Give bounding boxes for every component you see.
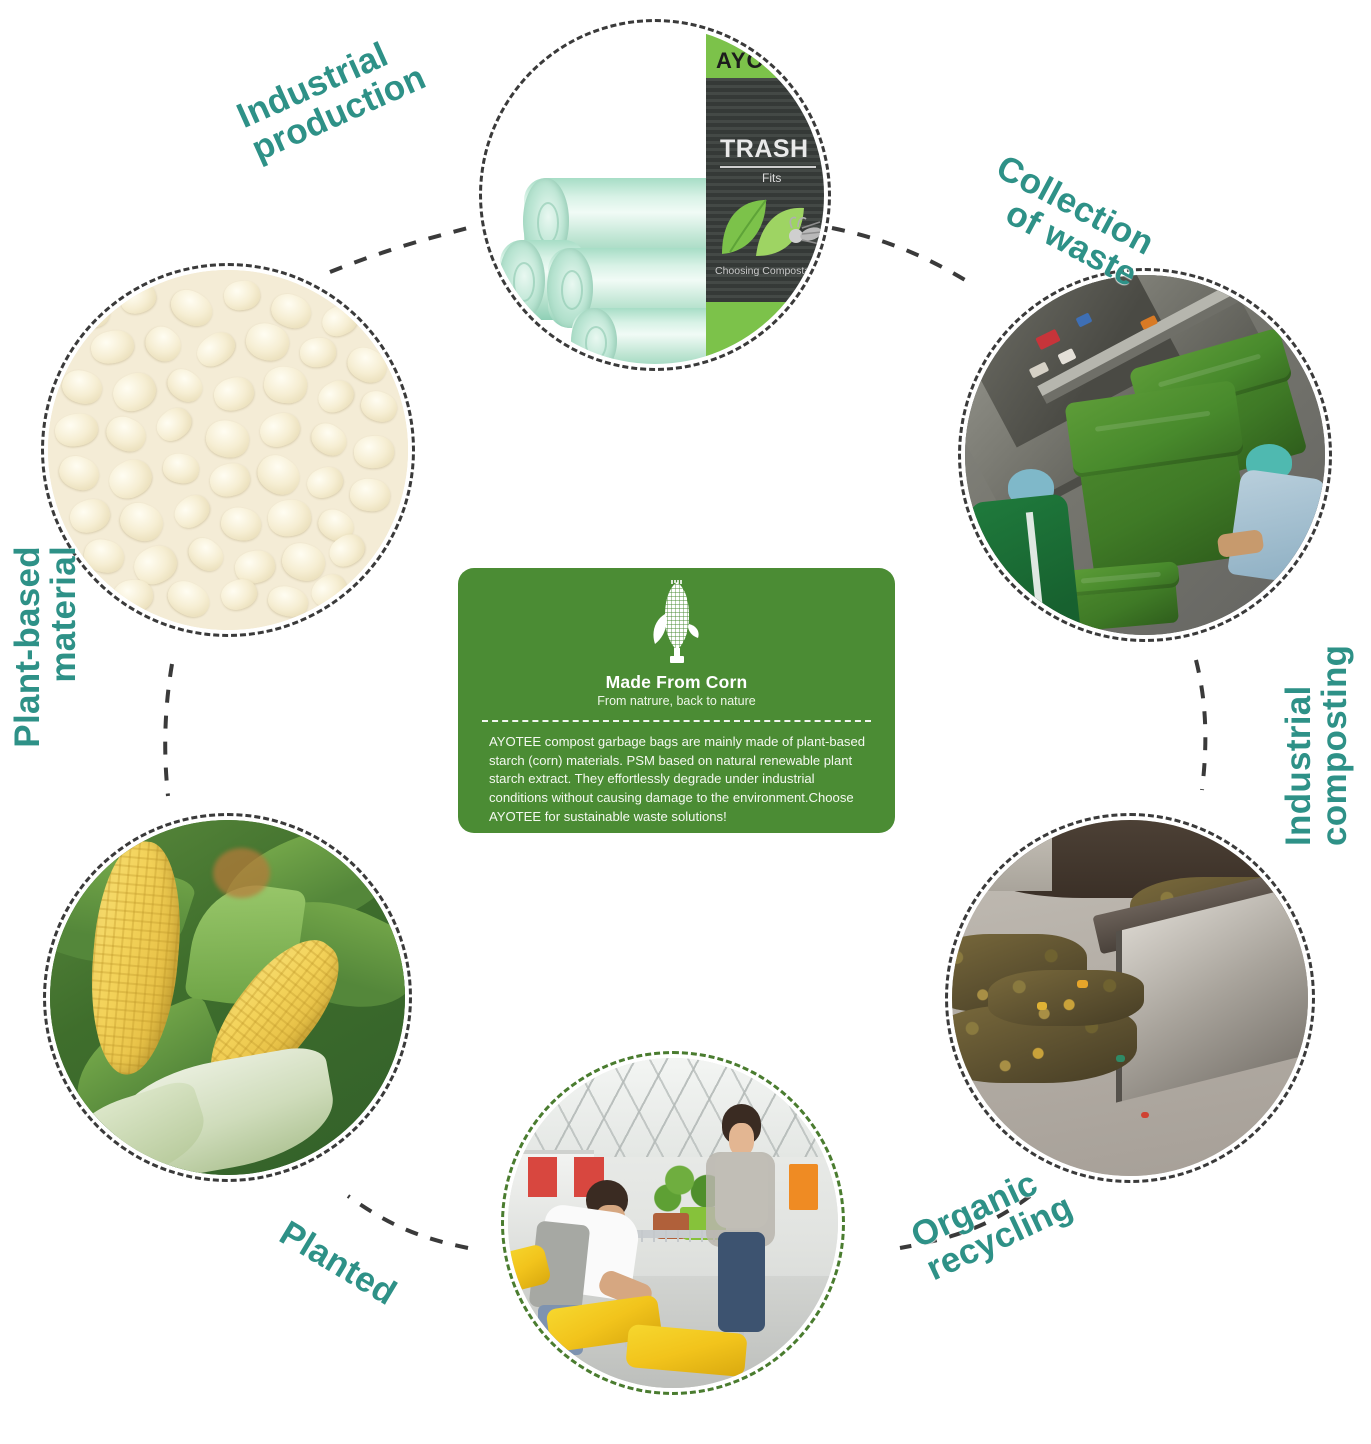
package-tagline: Choosing Compostab bbox=[715, 265, 816, 277]
node-planted-organic-recycling bbox=[508, 1058, 838, 1388]
card-body-text: AYOTEE compost garbage bags are mainly m… bbox=[489, 733, 871, 827]
label-plant-based-material: Plant-based material bbox=[10, 546, 83, 836]
package-brand-label: AYO bbox=[716, 48, 765, 74]
package-product-label: TRASH bbox=[720, 135, 809, 164]
photo-waste-collection bbox=[965, 275, 1325, 635]
label-industrial-composting: Industrial composting bbox=[1281, 566, 1354, 846]
sanitation-worker bbox=[972, 469, 1076, 635]
card-subtitle: From natrure, back to nature bbox=[458, 694, 895, 708]
label-industrial-production: Industrial production bbox=[232, 0, 517, 168]
label-collection-of-waste: Collection of waste bbox=[896, 108, 1160, 294]
green-wheelie-bin bbox=[1067, 573, 1179, 633]
garden-center-customer bbox=[699, 1104, 785, 1342]
package-size-note: Fits bbox=[762, 171, 781, 185]
node-industrial-production: AYO TRASH Fits Choosing Compostab bbox=[486, 26, 824, 364]
made-from-corn-card: Made From Corn From natrure, back to nat… bbox=[458, 568, 895, 833]
node-psm-pellets bbox=[48, 270, 408, 630]
product-package: AYO TRASH Fits Choosing Compostab bbox=[706, 26, 824, 364]
link-planted-to-material bbox=[348, 1196, 468, 1248]
photo-trash-bag-rolls: AYO TRASH Fits Choosing Compostab bbox=[486, 26, 824, 364]
photo-resin-pellets bbox=[48, 270, 408, 630]
link-material-to-corn bbox=[165, 664, 172, 796]
photo-garden-center bbox=[508, 1058, 838, 1388]
package-rule bbox=[720, 166, 816, 168]
node-corn-field bbox=[50, 820, 405, 1175]
card-divider bbox=[482, 720, 871, 722]
label-planted: Planted bbox=[273, 1215, 480, 1360]
node-collection-of-waste bbox=[965, 275, 1325, 635]
link-production-to-collection bbox=[832, 228, 965, 280]
link-collection-to-composting bbox=[1196, 660, 1205, 790]
corn-cob-icon bbox=[651, 580, 703, 666]
photo-corn-cobs bbox=[50, 820, 405, 1175]
card-title: Made From Corn bbox=[458, 672, 895, 693]
infographic-canvas: AYO TRASH Fits Choosing Compostab bbox=[0, 0, 1371, 1444]
leaf-eco-icon bbox=[716, 194, 824, 262]
link-material-to-production bbox=[330, 228, 468, 272]
